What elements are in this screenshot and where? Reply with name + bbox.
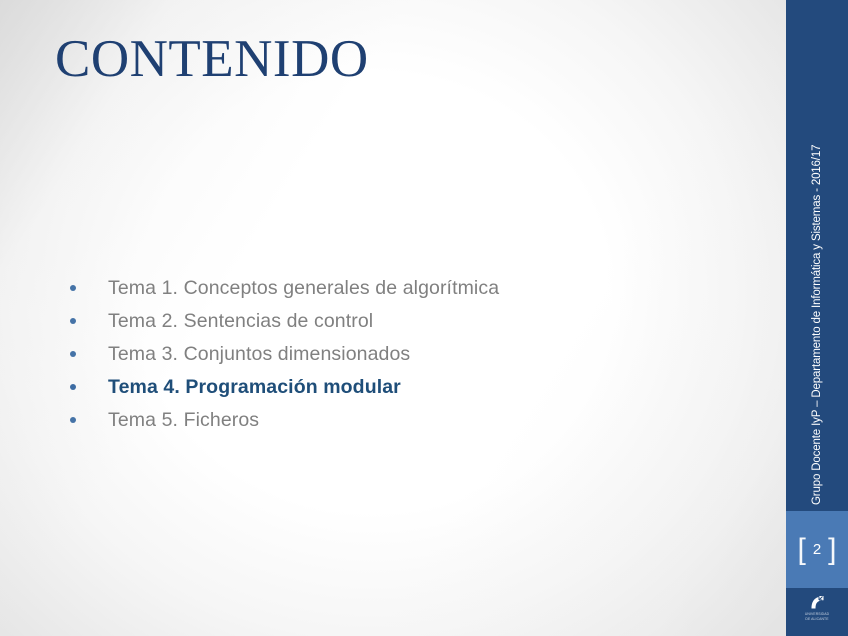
logo-caption-line-1: UNIVERSIDAD [805,612,829,616]
university-emblem-icon [809,594,826,611]
logo-footer: UNIVERSIDAD DE ALICANTE [786,588,848,636]
list-item-label: Tema 3. Conjuntos dimensionados [108,343,410,365]
sidebar-vertical-caption: Grupo Docente IyP – Departamento de Info… [786,0,848,509]
content-bullet-list: Tema 1. Conceptos generales de algorítmi… [64,272,704,437]
list-item-label: Tema 4. Programación modular [108,376,401,398]
bracket-right-icon: ] [828,535,836,565]
list-item[interactable]: Tema 3. Conjuntos dimensionados [64,338,704,371]
list-item[interactable]: Tema 2. Sentencias de control [64,305,704,338]
sidebar-vertical-caption-text: Grupo Docente IyP – Departamento de Info… [811,145,823,505]
sidebar-band: Grupo Docente IyP – Departamento de Info… [786,0,848,509]
list-item[interactable]: Tema 5. Ficheros [64,404,704,437]
page-number-value: 2 [813,542,821,557]
list-item[interactable]: Tema 1. Conceptos generales de algorítmi… [64,272,704,305]
bullet-dot-icon [70,417,76,423]
slide-canvas: CONTENIDO Tema 1. Conceptos generales de… [0,0,848,636]
bullet-dot-icon [70,285,76,291]
list-item-label: Tema 1. Conceptos generales de algorítmi… [108,277,499,299]
logo-caption-line-2: DE ALICANTE [805,617,828,621]
list-item-label: Tema 5. Ficheros [108,409,259,431]
right-sidebar: Grupo Docente IyP – Departamento de Info… [786,0,848,636]
bracket-left-icon: [ [797,535,805,565]
logo-wrapper: UNIVERSIDAD DE ALICANTE [794,594,840,628]
page-number-badge: [ 2 ] [786,511,848,588]
page-title: CONTENIDO [55,27,369,91]
list-item-active[interactable]: Tema 4. Programación modular [64,371,704,404]
page-number-inner: [ 2 ] [786,511,848,588]
bullet-dot-icon [70,384,76,390]
list-item-label: Tema 2. Sentencias de control [108,310,373,332]
bullet-dot-icon [70,351,76,357]
bullet-dot-icon [70,318,76,324]
